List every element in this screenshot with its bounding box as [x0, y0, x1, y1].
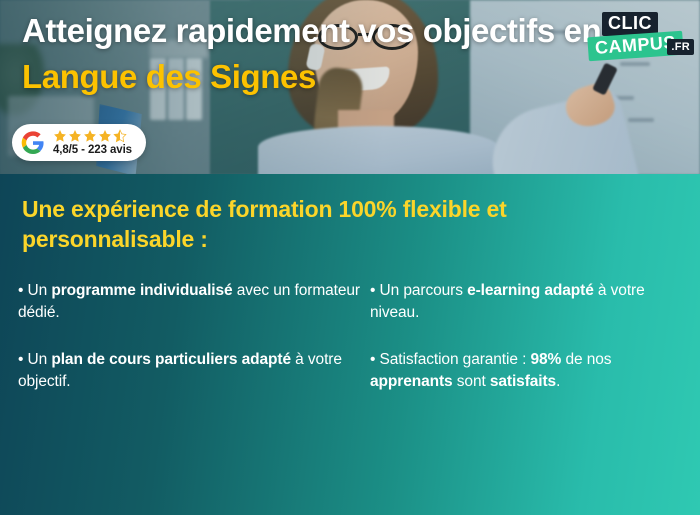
bullet-text: Un parcours — [375, 282, 467, 299]
logo-tld-text: .FR — [667, 39, 694, 55]
list-item: • Un plan de cours particuliers adapté à… — [18, 349, 370, 394]
rating-details: 4,8/5 - 223 avis — [53, 129, 132, 156]
page-title: Atteignez rapidement vos objectifs en La… — [22, 8, 602, 99]
hero-section: Atteignez rapidement vos objectifs en La… — [0, 0, 700, 175]
bullet-emphasis: 98% — [531, 351, 562, 368]
star-icon — [68, 129, 82, 143]
list-item: • Un programme individualisé avec un for… — [18, 280, 370, 325]
bullet-text: sont — [453, 373, 490, 390]
google-g-icon — [21, 131, 45, 155]
headline-accent-text: Langue des Signes — [22, 58, 316, 95]
bullet-emphasis: programme individualisé — [51, 282, 232, 299]
bullet-emphasis: e-learning adapté — [467, 282, 594, 299]
bullet-emphasis: plan de cours particuliers adapté — [51, 351, 291, 368]
star-icon — [53, 129, 67, 143]
bullet-text: . — [556, 373, 560, 390]
star-icon — [83, 129, 97, 143]
bullet-emphasis: apprenants — [370, 373, 453, 390]
star-icon — [98, 129, 112, 143]
list-item: • Un parcours e-learning adapté à votre … — [370, 280, 686, 325]
feature-list: • Un programme individualisé avec un for… — [18, 280, 686, 394]
features-panel: Une expérience de formation 100% flexibl… — [0, 174, 700, 515]
bullet-emphasis: satisfaits — [490, 373, 556, 390]
bullet-text: Un — [23, 282, 51, 299]
bullet-text: Satisfaction garantie : — [375, 351, 530, 368]
promo-banner: Atteignez rapidement vos objectifs en La… — [0, 0, 700, 515]
panel-subheading: Une expérience de formation 100% flexibl… — [22, 194, 662, 255]
bullet-text: de nos — [561, 351, 611, 368]
list-item: • Satisfaction garantie : 98% de nos app… — [370, 349, 686, 394]
google-rating-badge[interactable]: 4,8/5 - 223 avis — [12, 124, 146, 161]
bullet-text: Un — [23, 351, 51, 368]
headline-text-plain: Atteignez rapidement vos objectifs en — [22, 12, 601, 49]
brand-logo[interactable]: CLIC CAMPUS .FR — [588, 12, 692, 64]
star-rating — [53, 129, 132, 143]
rating-text: 4,8/5 - 223 avis — [53, 144, 132, 156]
star-half-icon — [113, 129, 127, 143]
